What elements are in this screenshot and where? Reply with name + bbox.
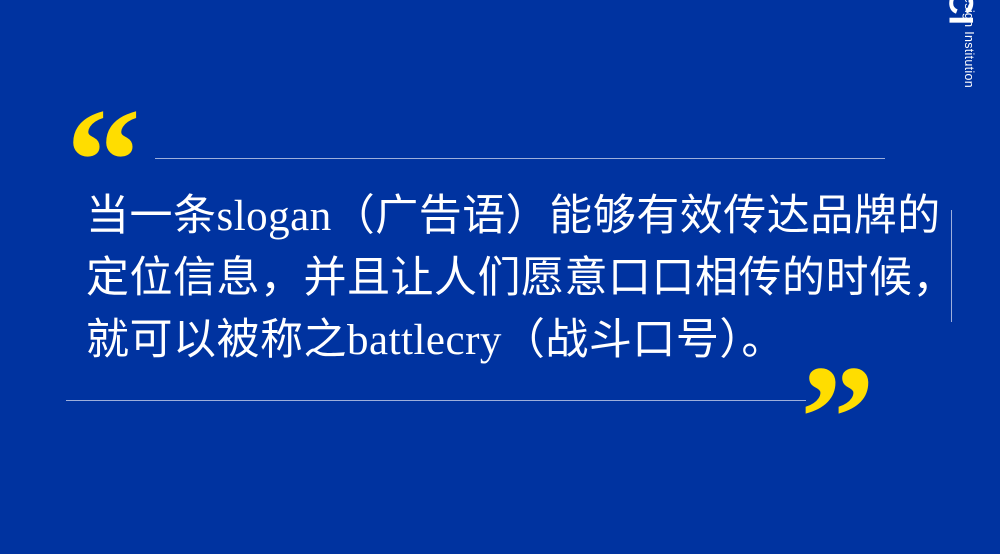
close-quote-icon: ” xyxy=(800,343,873,493)
brand-rail: UCI Brand Design Institution xyxy=(934,26,980,326)
quote-text: 当一条slogan（广告语）能够有效传达品牌的 定位信息，并且让人们愿意口口相传… xyxy=(86,186,898,372)
divider-top xyxy=(155,158,885,159)
quote-line-2: 定位信息，并且让人们愿意口口相传的时候， xyxy=(86,248,898,310)
quote-line-3: 就可以被称之battlecry（战斗口号）。 xyxy=(86,310,898,372)
quote-line-1: 当一条slogan（广告语）能够有效传达品牌的 xyxy=(86,186,898,248)
quote-card: “ 当一条slogan（广告语）能够有效传达品牌的 定位信息，并且让人们愿意口口… xyxy=(0,0,1000,554)
brand-tagline: Brand Design Institution xyxy=(963,0,976,88)
divider-bottom xyxy=(66,400,806,401)
divider-vertical xyxy=(951,210,952,322)
